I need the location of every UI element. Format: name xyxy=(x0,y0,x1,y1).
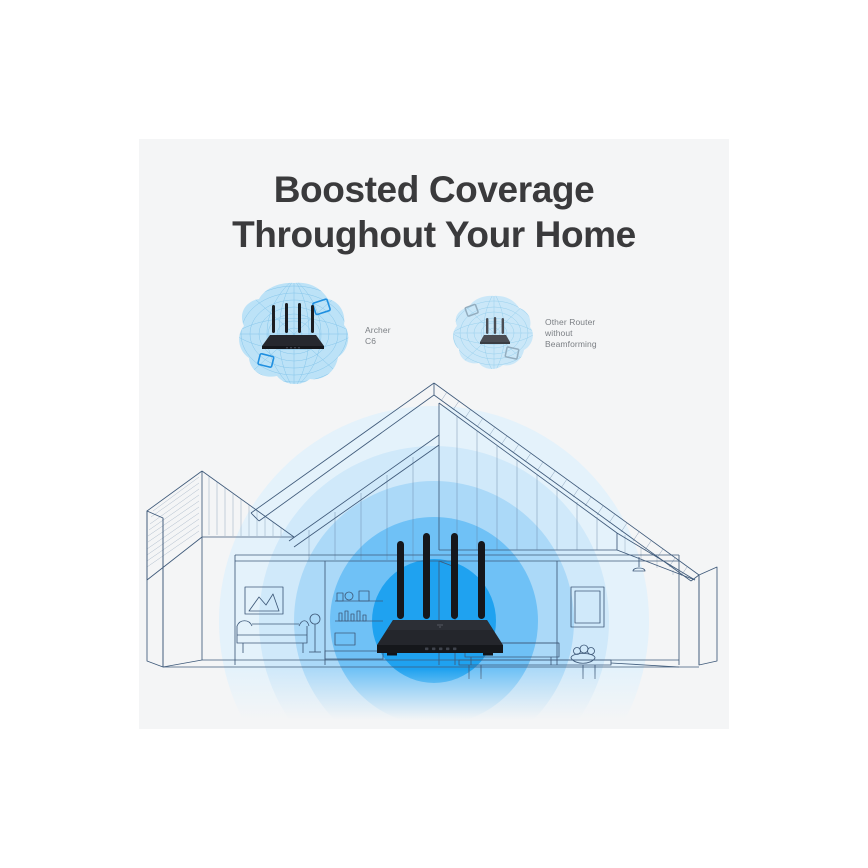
coverage-blob-weak-icon xyxy=(452,293,536,378)
signal-rings-group xyxy=(219,406,649,729)
comparison-label-archer-c6: Archer C6 xyxy=(365,325,391,347)
headline-line-2: Throughout Your Home xyxy=(139,212,729,257)
page-root: Boosted Coverage Throughout Your Home xyxy=(0,0,868,868)
house-coverage-illustration xyxy=(139,375,729,729)
promo-card: Boosted Coverage Throughout Your Home xyxy=(139,139,729,729)
archer-c6-router-icon xyxy=(260,303,328,360)
coverage-blob-strong-icon xyxy=(234,279,354,392)
headline-line-1: Boosted Coverage xyxy=(274,169,595,210)
page-title: Boosted Coverage Throughout Your Home xyxy=(139,167,729,257)
router-comparison: Archer C6 xyxy=(139,279,729,389)
comparison-label-other-router: Other Router without Beamforming xyxy=(545,317,597,350)
other-router-icon xyxy=(477,316,513,353)
